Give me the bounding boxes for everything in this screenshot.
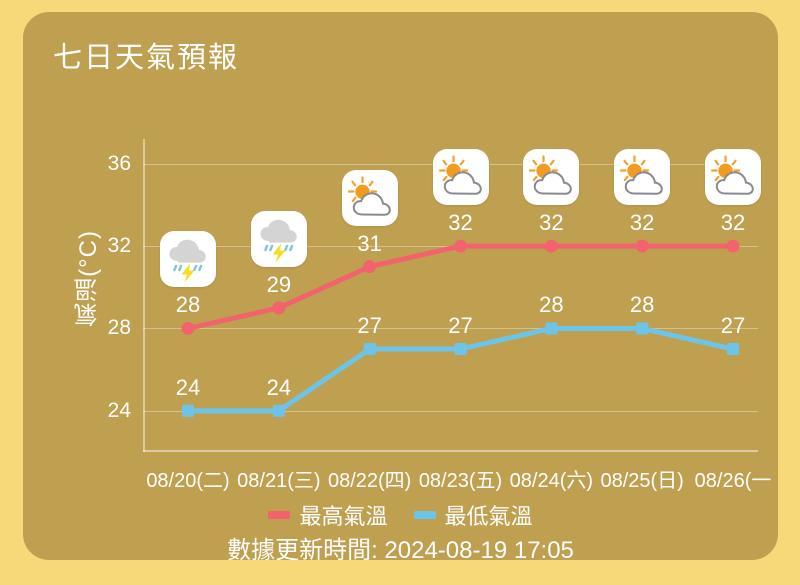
partly-sunny-icon xyxy=(523,149,579,205)
chart-legend: 最高氣溫最低氣溫 xyxy=(23,499,778,531)
point-value-label: 28 xyxy=(630,292,654,318)
legend-label: 最高氣溫 xyxy=(299,499,387,531)
point-value-label: 32 xyxy=(539,210,563,236)
thunderstorm-icon xyxy=(160,231,216,287)
x-axis-tick: 08/25(日) xyxy=(600,464,683,493)
data-point xyxy=(364,343,376,355)
data-point xyxy=(272,301,285,314)
legend-swatch xyxy=(414,511,436,519)
data-point xyxy=(182,405,194,417)
data-point xyxy=(545,240,558,253)
point-value-label: 24 xyxy=(267,375,291,401)
thunderstorm-icon xyxy=(251,211,307,267)
data-point xyxy=(727,240,740,253)
y-axis-tick: 28 xyxy=(108,316,131,340)
point-value-label: 24 xyxy=(176,375,200,401)
legend-swatch xyxy=(268,511,290,519)
y-axis-tick: 32 xyxy=(108,234,131,258)
data-point xyxy=(454,240,467,253)
page-title: 七日天氣預報 xyxy=(53,34,239,76)
data-point xyxy=(363,260,376,273)
data-point xyxy=(636,240,649,253)
point-value-label: 32 xyxy=(448,210,472,236)
temperature-chart: 24283236 2829313232323224242727282827 xyxy=(23,117,778,462)
point-value-label: 27 xyxy=(721,313,745,339)
legend-label: 最低氣溫 xyxy=(445,499,533,531)
x-axis-tick: 08/20(二) xyxy=(146,464,229,493)
point-value-label: 32 xyxy=(721,210,745,236)
point-value-label: 27 xyxy=(448,313,472,339)
legend-item-min-temp[interactable]: 最低氣溫 xyxy=(414,499,533,531)
x-axis-tick: 08/21(三) xyxy=(237,464,320,493)
data-point xyxy=(545,322,557,334)
partly-sunny-icon xyxy=(705,149,761,205)
data-point xyxy=(182,322,195,335)
point-value-label: 31 xyxy=(357,231,381,257)
partly-sunny-icon xyxy=(614,149,670,205)
weather-forecast-page: 七日天氣預報 氣溫(°C) 24283236 28293132323232242… xyxy=(0,0,800,585)
update-time-text: 數據更新時間: 2024-08-19 17:05 xyxy=(23,530,778,560)
legend-item-max-temp[interactable]: 最高氣溫 xyxy=(268,499,387,531)
data-point xyxy=(455,343,467,355)
x-axis-tick-labels: 08/20(二)08/21(三)08/22(四)08/23(五)08/24(六)… xyxy=(23,464,778,492)
partly-sunny-icon xyxy=(342,170,398,226)
x-axis-tick: 08/24(六) xyxy=(510,464,593,493)
plot-area: 24283236 2829313232323224242727282827 xyxy=(143,139,758,452)
x-axis-tick: 08/26(一 xyxy=(695,464,772,493)
point-value-label: 28 xyxy=(176,292,200,318)
partly-sunny-icon xyxy=(433,149,489,205)
x-axis-tick: 08/23(五) xyxy=(419,464,502,493)
data-point xyxy=(636,322,648,334)
y-axis-tick: 36 xyxy=(108,152,131,176)
x-axis-tick: 08/22(四) xyxy=(328,464,411,493)
forecast-card: 七日天氣預報 氣溫(°C) 24283236 28293132323232242… xyxy=(23,12,778,560)
point-value-label: 27 xyxy=(357,313,381,339)
point-value-label: 32 xyxy=(630,210,654,236)
point-value-label: 29 xyxy=(267,272,291,298)
data-point xyxy=(727,343,739,355)
point-value-label: 28 xyxy=(539,292,563,318)
y-axis-tick: 24 xyxy=(108,399,131,423)
data-point xyxy=(273,405,285,417)
